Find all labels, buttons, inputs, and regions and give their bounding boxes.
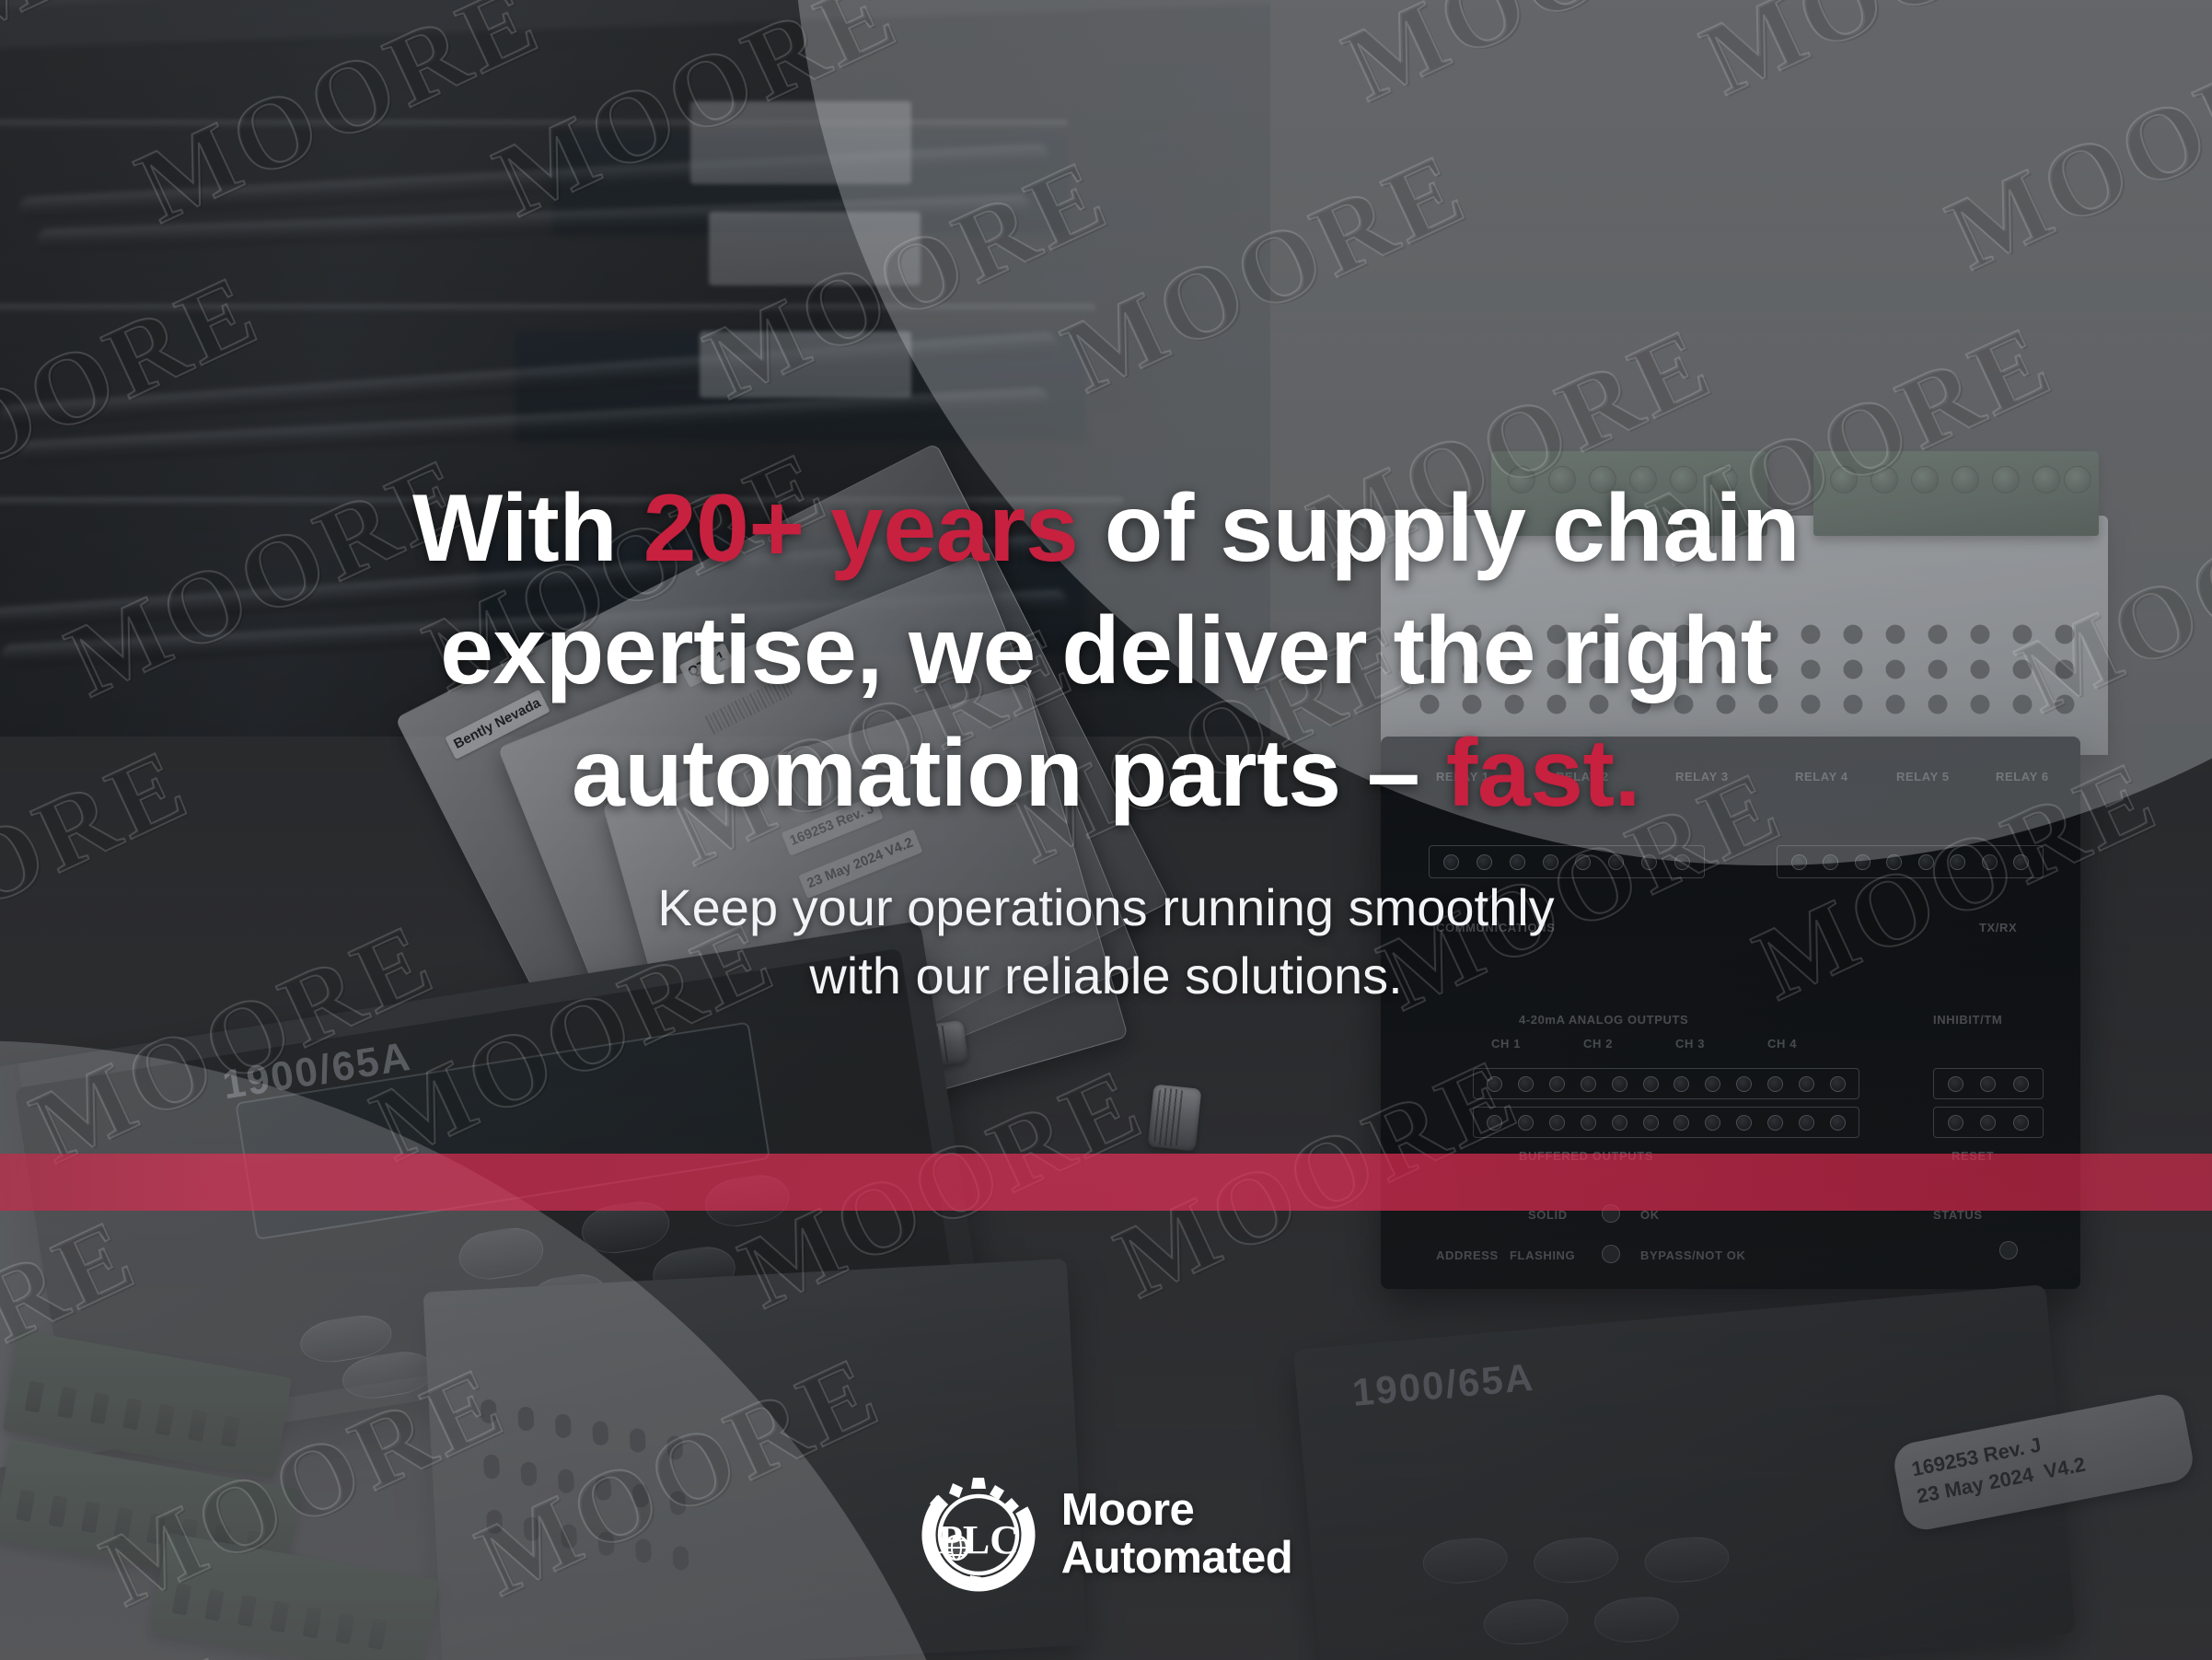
background-photo: RELAY 1 RELAY 2 RELAY 3 RELAY 4 RELAY 5 … (0, 0, 2212, 1660)
brand-name-line1: Moore (1061, 1487, 1292, 1535)
logo-monogram-plc: PLC (938, 1517, 1019, 1562)
brand-name-line2: Automated (1061, 1535, 1292, 1583)
brand-lockup: PLC Moore Automated (0, 1476, 2212, 1594)
promotional-banner: RELAY 1 RELAY 2 RELAY 3 RELAY 4 RELAY 5 … (0, 0, 2212, 1660)
gear-globe-plc-logo-icon: PLC (920, 1476, 1037, 1594)
brand-name: Moore Automated (1061, 1487, 1292, 1583)
